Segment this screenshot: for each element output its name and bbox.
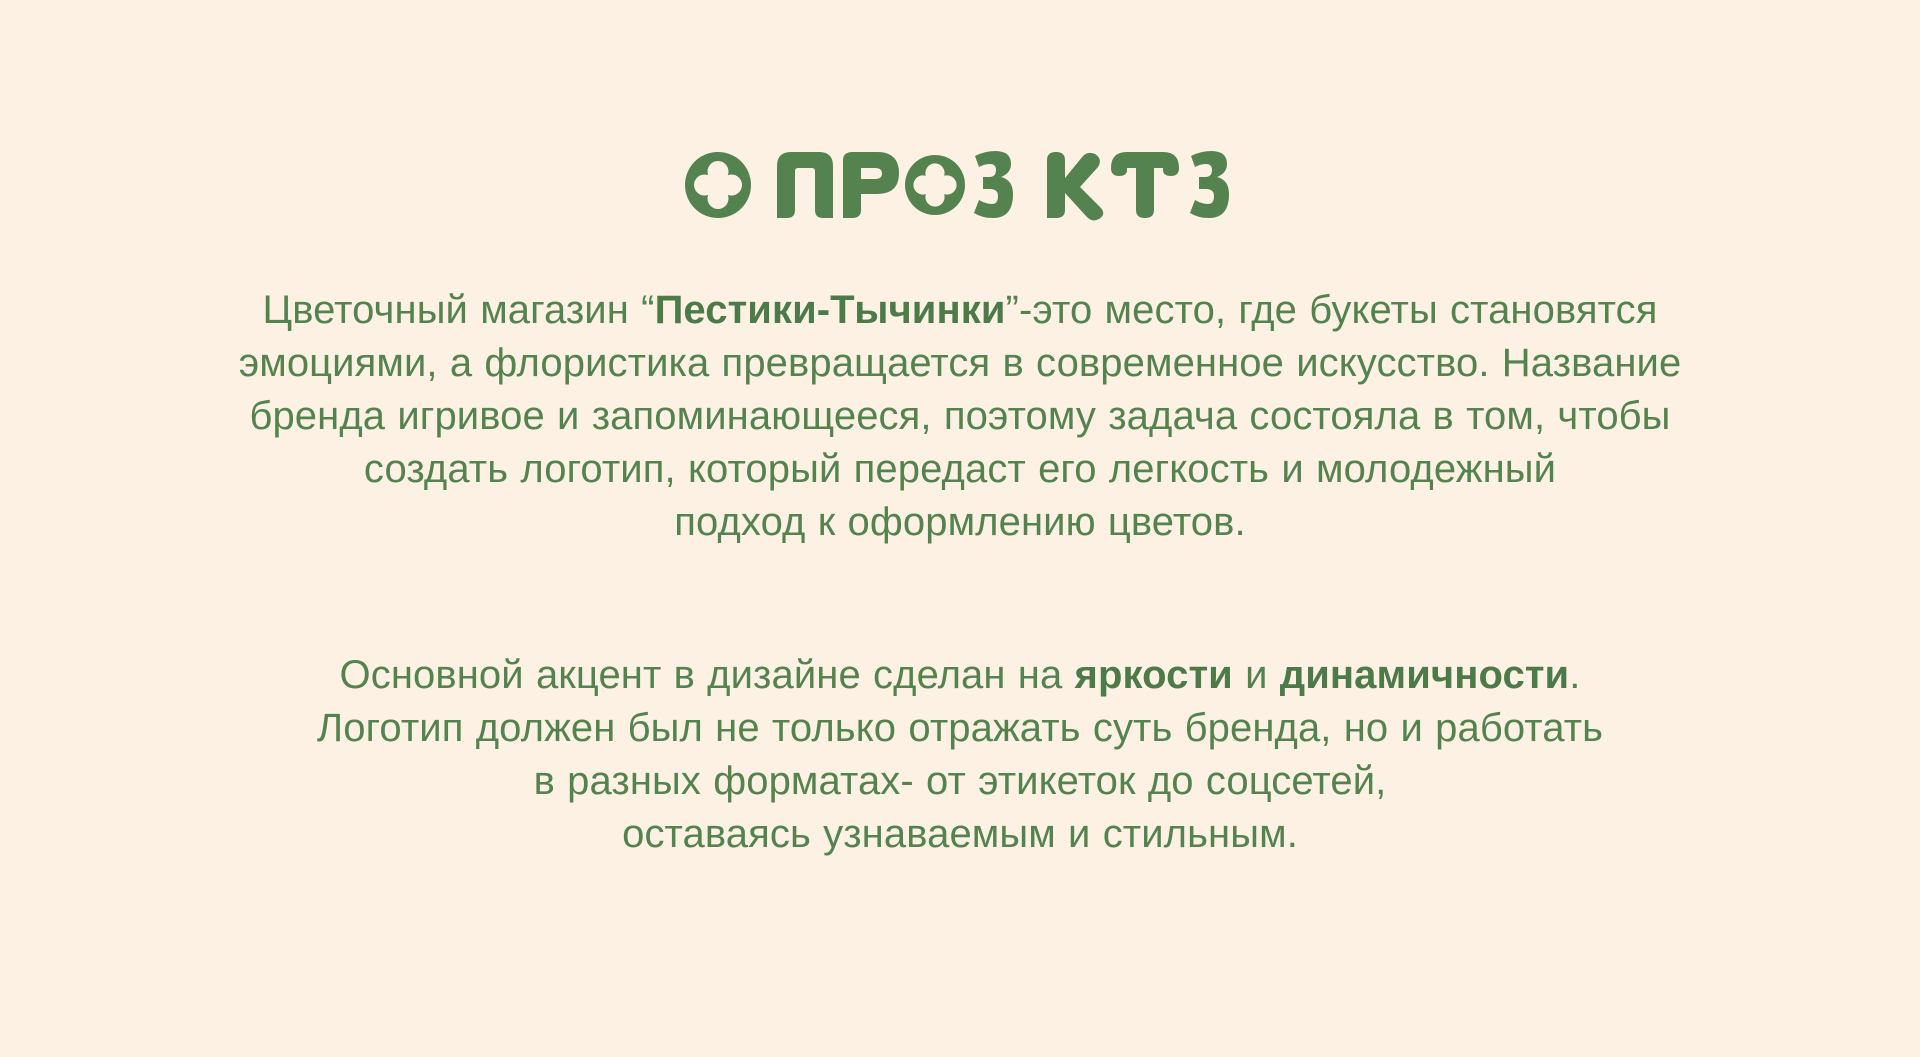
about-project-slide: О ПРОЕКТЕ (0, 0, 1920, 1057)
paragraph-line: оставаясь узнаваемым и стильным. (110, 808, 1810, 861)
line-text: ”-это место, где букеты становятся (1006, 288, 1658, 332)
glyph-ie-2 (1190, 151, 1229, 218)
title-glyphs-tail (1041, 142, 1236, 228)
glyph-ka (1047, 152, 1103, 220)
paragraph-line: эмоциями, а флористика превращается в со… (110, 337, 1810, 390)
paragraph-line: бренда игривое и запоминающееся, поэтому… (110, 390, 1810, 443)
flower-o-icon-1 (685, 152, 751, 218)
title-wordmark: О ПРОЕКТЕ (685, 142, 1236, 228)
line-text: и (1233, 653, 1280, 697)
line-text: Основной акцент в дизайне сделан на (340, 653, 1075, 697)
about-body: Цветочный магазин “Пестики-Тычинки”-это … (110, 284, 1810, 861)
line-text: . (1569, 653, 1580, 697)
paragraph-line: создать логотип, который передаст его ле… (110, 443, 1810, 496)
paragraph-intro: Цветочный магазин “Пестики-Тычинки”-это … (110, 284, 1810, 549)
glyph-ie-1 (974, 151, 1013, 218)
paragraph-line: Основной акцент в дизайне сделан на ярко… (110, 649, 1810, 702)
paragraph-accent: Основной акцент в дизайне сделан на ярко… (110, 649, 1810, 861)
glyph-er (843, 152, 899, 218)
paragraph-line: Логотип должен был не только отражать су… (110, 702, 1810, 755)
keyword-dynamism: динамичности (1280, 653, 1569, 697)
title-glyphs (685, 142, 1015, 228)
line-text: Цветочный магазин “ (263, 288, 655, 332)
glyph-pe (777, 152, 833, 218)
paragraph-line: подход к оформлению цветов. (110, 496, 1810, 549)
paragraph-line: Цветочный магазин “Пестики-Тычинки”-это … (110, 284, 1810, 337)
paragraph-line: в разных форматах- от этикеток до соцсет… (110, 755, 1810, 808)
page-title: О ПРОЕКТЕ (0, 142, 1920, 228)
keyword-brightness: яркости (1075, 653, 1233, 697)
brand-name: Пестики-Тычинки (655, 288, 1006, 332)
flower-o-icon-2 (905, 155, 965, 215)
glyph-te (1111, 152, 1179, 218)
paragraph-spacer (110, 549, 1810, 649)
